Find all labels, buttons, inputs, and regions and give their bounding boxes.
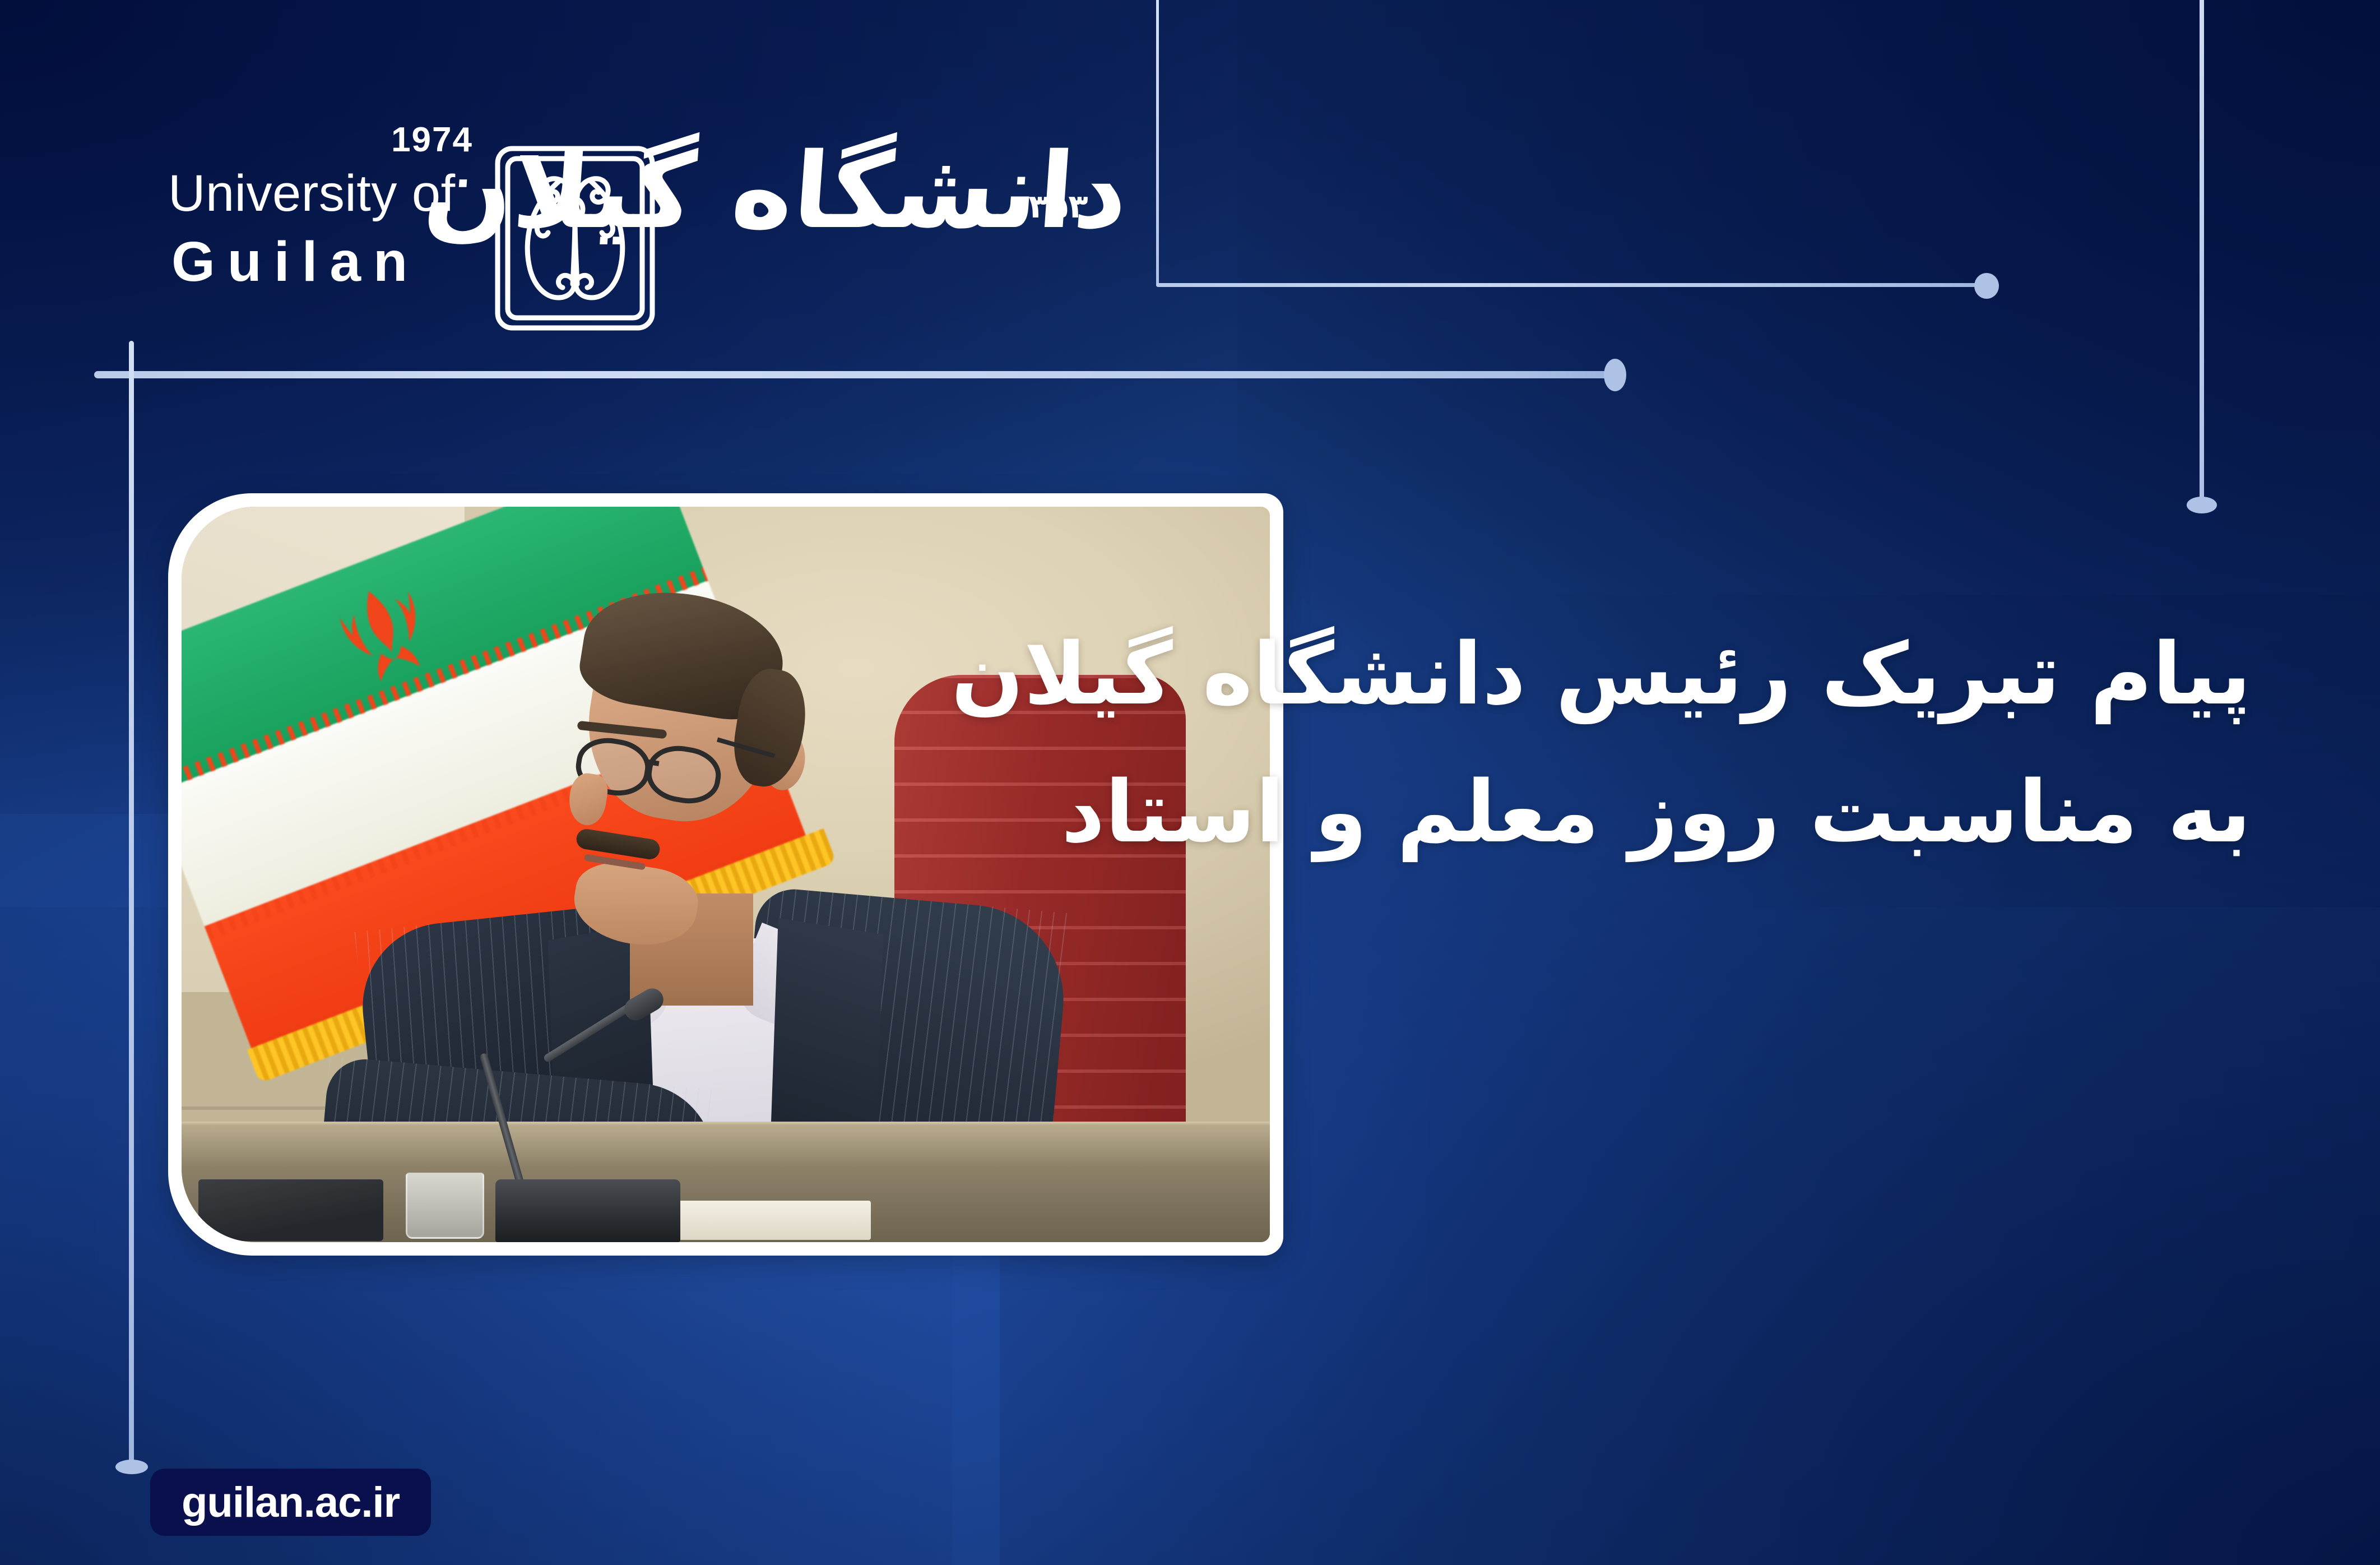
logo-year-persian: ۱۳۵۳ — [1009, 190, 1088, 223]
logo-persian-block: دانشگاه گیلان ۱۳۵۳ — [668, 132, 1128, 345]
decorative-line-top-right-horizontal — [1156, 283, 1985, 287]
headline: پیام تبریک رئیس دانشگاه گیلان به مناسبت … — [1231, 605, 2251, 881]
nose — [565, 771, 610, 827]
poster-canvas: 1974 University of Guilan دانشگاه گیلان … — [0, 0, 2380, 1565]
headline-line-1: پیام تبریک رئیس دانشگاه گیلان — [1231, 605, 2251, 743]
decorative-line-left-vertical — [129, 341, 134, 1473]
logo-english-line1: University of — [168, 168, 456, 219]
university-logo-lockup: 1974 University of Guilan دانشگاه گیلان … — [168, 132, 1154, 345]
decorative-dot-mid-right — [1604, 359, 1626, 391]
decorative-dot-right — [2187, 497, 2217, 513]
logo-english-line2: Guilan — [171, 234, 420, 290]
website-url-text: guilan.ac.ir — [182, 1478, 400, 1527]
decorative-dot-top-right — [1974, 273, 1999, 299]
headline-line-2: به مناسبت روز معلم و استاد — [1231, 743, 2251, 881]
decorative-line-mid-horizontal — [94, 371, 1618, 378]
website-url-badge[interactable]: guilan.ac.ir — [150, 1469, 431, 1536]
desk-folder — [198, 1179, 383, 1241]
water-glass — [406, 1173, 484, 1239]
microphone-base — [495, 1179, 680, 1242]
decorative-line-top-right-vertical — [1156, 0, 1159, 285]
decorative-line-right-vertical — [2200, 0, 2204, 508]
decorative-dot-bottom-left — [115, 1460, 148, 1474]
